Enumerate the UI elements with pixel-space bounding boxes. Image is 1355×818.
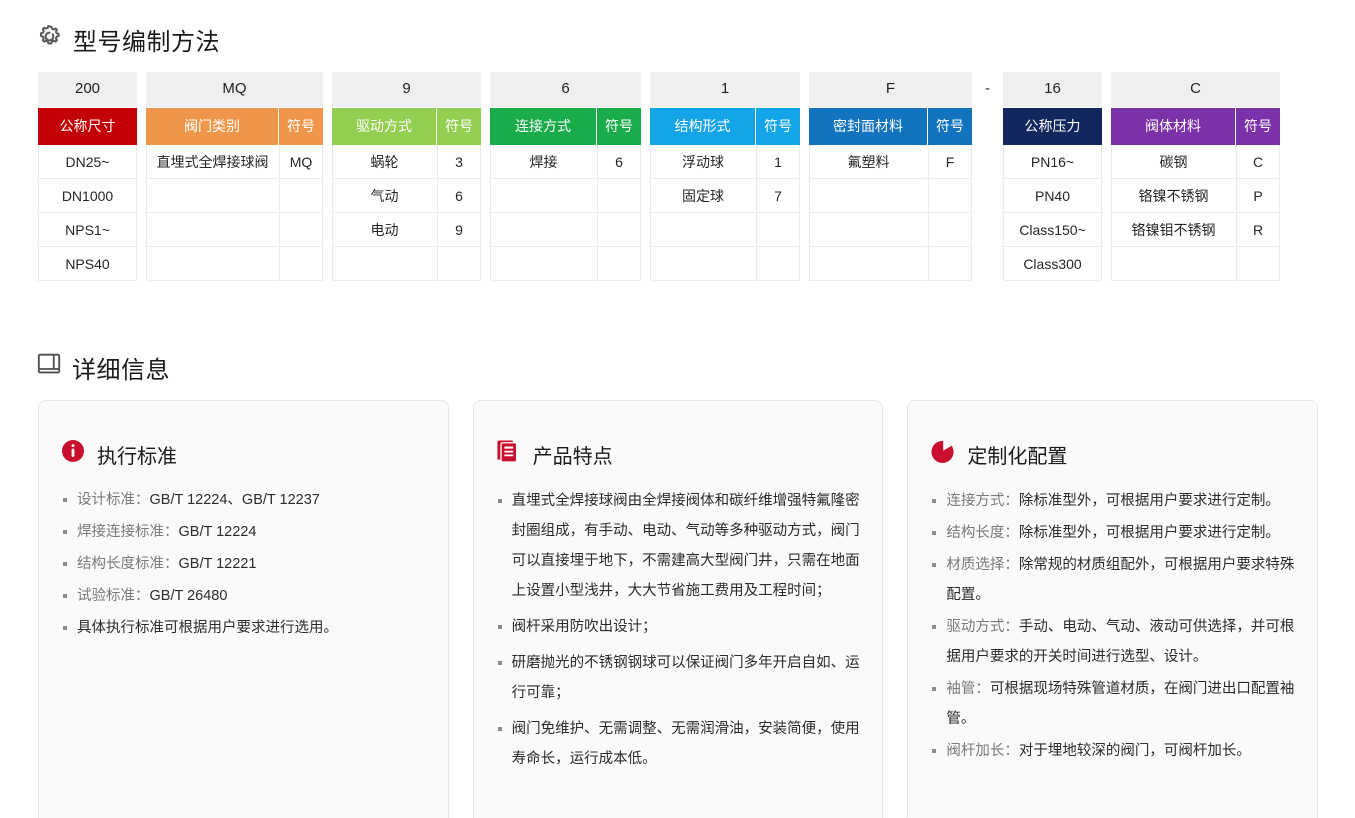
code-cell-empty (332, 247, 436, 281)
detail-card-list: 连接方式：除标准型外，可根据用户要求进行定制。结构长度：除标准型外，可根据用户要… (930, 486, 1295, 766)
code-cell: R (1236, 213, 1280, 247)
detail-card-title-text: 产品特点 (533, 440, 613, 469)
code-cell-empty (279, 213, 323, 247)
code-cell: Class150~ (1003, 213, 1102, 247)
list-item-label: 阀杆加长： (946, 743, 1019, 759)
code-cell: C (1236, 145, 1280, 179)
list-item: 具体执行标准可根据用户要求进行选用。 (61, 613, 426, 643)
list-item-text: 具体执行标准可根据用户要求进行选用。 (77, 620, 338, 636)
code-column: 密封面材料氟塑料 (809, 108, 927, 281)
code-group-code: 9 (332, 72, 481, 108)
list-item-label: 材质选择： (946, 557, 1019, 573)
section-heading-details: 详细信息 (36, 350, 170, 385)
code-cell: 直埋式全焊接球阀 (146, 145, 278, 179)
list-item-label: 连接方式： (946, 493, 1019, 509)
code-cell-empty (809, 213, 927, 247)
detail-card-title-text: 执行标准 (97, 440, 177, 469)
code-column-header: 符号 (928, 108, 972, 145)
code-cell: DN1000 (38, 179, 137, 213)
code-cell: 6 (597, 145, 641, 179)
code-cell: 氟塑料 (809, 145, 927, 179)
code-column: 结构形式浮动球固定球 (650, 108, 755, 281)
code-cell: 蜗轮 (332, 145, 436, 179)
code-cell: 浮动球 (650, 145, 755, 179)
code-column: 符号F (927, 108, 972, 281)
detail-card-list: 设计标准：GB/T 12224、GB/T 12237焊接连接标准：GB/T 12… (61, 485, 426, 643)
code-cell-empty (146, 247, 278, 281)
list-item-label: 结构长度标准： (77, 556, 179, 572)
code-cell: F (928, 145, 972, 179)
list-item: 焊接连接标准：GB/T 12224 (61, 517, 426, 547)
list-item-text: 阀杆采用防吹出设计； (512, 619, 657, 635)
code-cell: PN40 (1003, 179, 1102, 213)
code-column-header: 符号 (1236, 108, 1280, 145)
code-cell-empty (490, 247, 596, 281)
code-group: 9驱动方式蜗轮气动电动 符号369 (332, 72, 481, 281)
model-code-table: 200公称尺寸DN25~DN1000NPS1~NPS40MQ阀门类别直埋式全焊接… (38, 72, 1280, 281)
code-column-header: 驱动方式 (332, 108, 436, 145)
code-cell: Class300 (1003, 247, 1102, 281)
detail-card: 执行标准设计标准：GB/T 12224、GB/T 12237焊接连接标准：GB/… (38, 400, 449, 818)
code-cell: DN25~ (38, 145, 137, 179)
list-item-text: GB/T 12224 (179, 524, 257, 540)
code-cell: 焊接 (490, 145, 596, 179)
list-item: 试验标准：GB/T 26480 (61, 581, 426, 611)
detail-card-list: 直埋式全焊接球阀由全焊接阀体和碳纤维增强特氟隆密封圈组成，有手动、电动、气动等多… (496, 486, 861, 774)
list-item: 连接方式：除标准型外，可根据用户要求进行定制。 (930, 486, 1295, 516)
section-heading-model-code: 型号编制方法 (36, 22, 220, 57)
journal-icon (496, 439, 521, 470)
code-cell-empty (490, 179, 596, 213)
code-column-header: 密封面材料 (809, 108, 927, 145)
code-cell: 9 (437, 213, 481, 247)
code-cell-empty (1236, 247, 1280, 281)
detail-card-title: 产品特点 (496, 439, 861, 470)
gear-icon (36, 23, 63, 57)
code-column: 阀门类别直埋式全焊接球阀 (146, 108, 278, 281)
detail-card: 产品特点直埋式全焊接球阀由全焊接阀体和碳纤维增强特氟隆密封圈组成，有手动、电动、… (473, 400, 884, 818)
detail-card-title: 定制化配置 (930, 439, 1295, 470)
list-item: 阀杆采用防吹出设计； (496, 612, 861, 642)
code-separator: - (981, 72, 994, 98)
list-item-text: GB/T 12224、GB/T 12237 (150, 492, 320, 508)
list-item-text: 研磨抛光的不锈钢钢球可以保证阀门多年开启自如、运行可靠； (512, 655, 860, 701)
list-item: 袖管：可根据现场特殊管道材质，在阀门进出口配置袖管。 (930, 674, 1295, 734)
list-item-text: 直埋式全焊接球阀由全焊接阀体和碳纤维增强特氟隆密封圈组成，有手动、电动、气动等多… (512, 493, 860, 599)
code-cell-empty (146, 213, 278, 247)
code-cell-empty (756, 213, 800, 247)
list-item: 设计标准：GB/T 12224、GB/T 12237 (61, 485, 426, 515)
code-column-header: 符号 (597, 108, 641, 145)
list-item: 结构长度：除标准型外，可根据用户要求进行定制。 (930, 518, 1295, 548)
code-cell-empty (928, 179, 972, 213)
code-cell-empty (597, 213, 641, 247)
code-column: 符号17 (755, 108, 800, 281)
code-column-header: 结构形式 (650, 108, 755, 145)
section-title-text: 详细信息 (72, 350, 170, 385)
code-group-code: 200 (38, 72, 137, 108)
code-cell-empty (650, 247, 755, 281)
code-group: 1结构形式浮动球固定球 符号17 (650, 72, 800, 281)
code-column-header: 连接方式 (490, 108, 596, 145)
code-group-code: MQ (146, 72, 323, 108)
code-cell-empty (756, 247, 800, 281)
code-cell: NPS1~ (38, 213, 137, 247)
list-item-text: GB/T 12221 (179, 556, 257, 572)
list-item: 直埋式全焊接球阀由全焊接阀体和碳纤维增强特氟隆密封圈组成，有手动、电动、气动等多… (496, 486, 861, 606)
code-cell: NPS40 (38, 247, 137, 281)
info-circle-icon (61, 439, 85, 469)
code-cell: 气动 (332, 179, 436, 213)
code-cell-empty (279, 247, 323, 281)
code-column-header: 符号 (437, 108, 481, 145)
code-group-code: 16 (1003, 72, 1102, 108)
code-column-header: 阀门类别 (146, 108, 278, 145)
detail-card-title: 执行标准 (61, 439, 426, 469)
code-column: 符号MQ (278, 108, 323, 281)
code-cell: 3 (437, 145, 481, 179)
code-group-code: C (1111, 72, 1280, 108)
code-group: F密封面材料氟塑料 符号F (809, 72, 972, 281)
code-group: 16公称压力PN16~PN40Class150~Class300 (1003, 72, 1102, 281)
code-cell: 6 (437, 179, 481, 213)
list-item-text: 可根据现场特殊管道材质，在阀门进出口配置袖管。 (946, 681, 1294, 727)
list-item: 阀杆加长：对于埋地较深的阀门，可阀杆加长。 (930, 736, 1295, 766)
list-item-label: 结构长度： (946, 525, 1019, 541)
code-column-header: 符号 (279, 108, 323, 145)
code-cell-empty (490, 213, 596, 247)
code-cell-empty (279, 179, 323, 213)
code-cell: 电动 (332, 213, 436, 247)
list-item-label: 袖管： (946, 681, 990, 697)
code-column-header: 符号 (756, 108, 800, 145)
list-item-text: 除标准型外，可根据用户要求进行定制。 (1019, 493, 1280, 509)
code-cell-empty (809, 247, 927, 281)
list-item: 结构长度标准：GB/T 12221 (61, 549, 426, 579)
code-column-header: 公称尺寸 (38, 108, 137, 145)
detail-cards: 执行标准设计标准：GB/T 12224、GB/T 12237焊接连接标准：GB/… (38, 400, 1318, 818)
section-title-text: 型号编制方法 (73, 22, 220, 57)
code-cell-empty (597, 247, 641, 281)
code-cell: 铬镍不锈钢 (1111, 179, 1235, 213)
list-item: 材质选择：除常规的材质组配外，可根据用户要求特殊配置。 (930, 550, 1295, 610)
code-cell-empty (809, 179, 927, 213)
list-item: 驱动方式：手动、电动、气动、液动可供选择，并可根据用户要求的开关时间进行选型、设… (930, 612, 1295, 672)
code-column: 阀体材料碳钢铬镍不锈钢铬镍钼不锈钢 (1111, 108, 1235, 281)
code-cell: PN16~ (1003, 145, 1102, 179)
code-group-code: 1 (650, 72, 800, 108)
code-cell-empty (437, 247, 481, 281)
code-cell: 1 (756, 145, 800, 179)
code-cell: 铬镍钼不锈钢 (1111, 213, 1235, 247)
code-group: C阀体材料碳钢铬镍不锈钢铬镍钼不锈钢 符号CPR (1111, 72, 1280, 281)
detail-card: 定制化配置连接方式：除标准型外，可根据用户要求进行定制。结构长度：除标准型外，可… (907, 400, 1318, 818)
list-item-text: 除标准型外，可根据用户要求进行定制。 (1019, 525, 1280, 541)
code-column-header: 阀体材料 (1111, 108, 1235, 145)
code-cell: 7 (756, 179, 800, 213)
pie-chart-icon (930, 439, 955, 470)
list-item-label: 驱动方式： (946, 619, 1019, 635)
code-cell: MQ (279, 145, 323, 179)
code-cell: 固定球 (650, 179, 755, 213)
code-column: 符号6 (596, 108, 641, 281)
book-icon (36, 351, 62, 384)
code-cell: P (1236, 179, 1280, 213)
code-group: MQ阀门类别直埋式全焊接球阀 符号MQ (146, 72, 323, 281)
code-group: 200公称尺寸DN25~DN1000NPS1~NPS40 (38, 72, 137, 281)
list-item-label: 试验标准： (77, 588, 150, 604)
code-cell-empty (597, 179, 641, 213)
code-group-code: F (809, 72, 972, 108)
code-cell-empty (928, 247, 972, 281)
list-item-text: GB/T 26480 (150, 588, 228, 604)
code-column: 符号369 (436, 108, 481, 281)
code-cell-empty (650, 213, 755, 247)
code-column: 公称压力PN16~PN40Class150~Class300 (1003, 108, 1102, 281)
list-item: 研磨抛光的不锈钢钢球可以保证阀门多年开启自如、运行可靠； (496, 648, 861, 708)
page-root: 型号编制方法 200公称尺寸DN25~DN1000NPS1~NPS40MQ阀门类… (0, 0, 1355, 818)
list-item-label: 设计标准： (77, 492, 150, 508)
code-cell: 碳钢 (1111, 145, 1235, 179)
list-item: 阀门免维护、无需调整、无需润滑油，安装简便，使用寿命长，运行成本低。 (496, 714, 861, 774)
code-column-header: 公称压力 (1003, 108, 1102, 145)
code-group-code: 6 (490, 72, 641, 108)
code-column: 连接方式焊接 (490, 108, 596, 281)
code-column: 符号CPR (1235, 108, 1280, 281)
code-column: 公称尺寸DN25~DN1000NPS1~NPS40 (38, 108, 137, 281)
list-item-text: 对于埋地较深的阀门，可阀杆加长。 (1019, 743, 1251, 759)
code-column: 驱动方式蜗轮气动电动 (332, 108, 436, 281)
code-group: 6连接方式焊接 符号6 (490, 72, 641, 281)
code-cell-empty (146, 179, 278, 213)
code-cell-empty (1111, 247, 1235, 281)
detail-card-title-text: 定制化配置 (967, 440, 1067, 469)
list-item-label: 焊接连接标准： (77, 524, 179, 540)
list-item-text: 阀门免维护、无需调整、无需润滑油，安装简便，使用寿命长，运行成本低。 (512, 721, 860, 767)
code-cell-empty (928, 213, 972, 247)
